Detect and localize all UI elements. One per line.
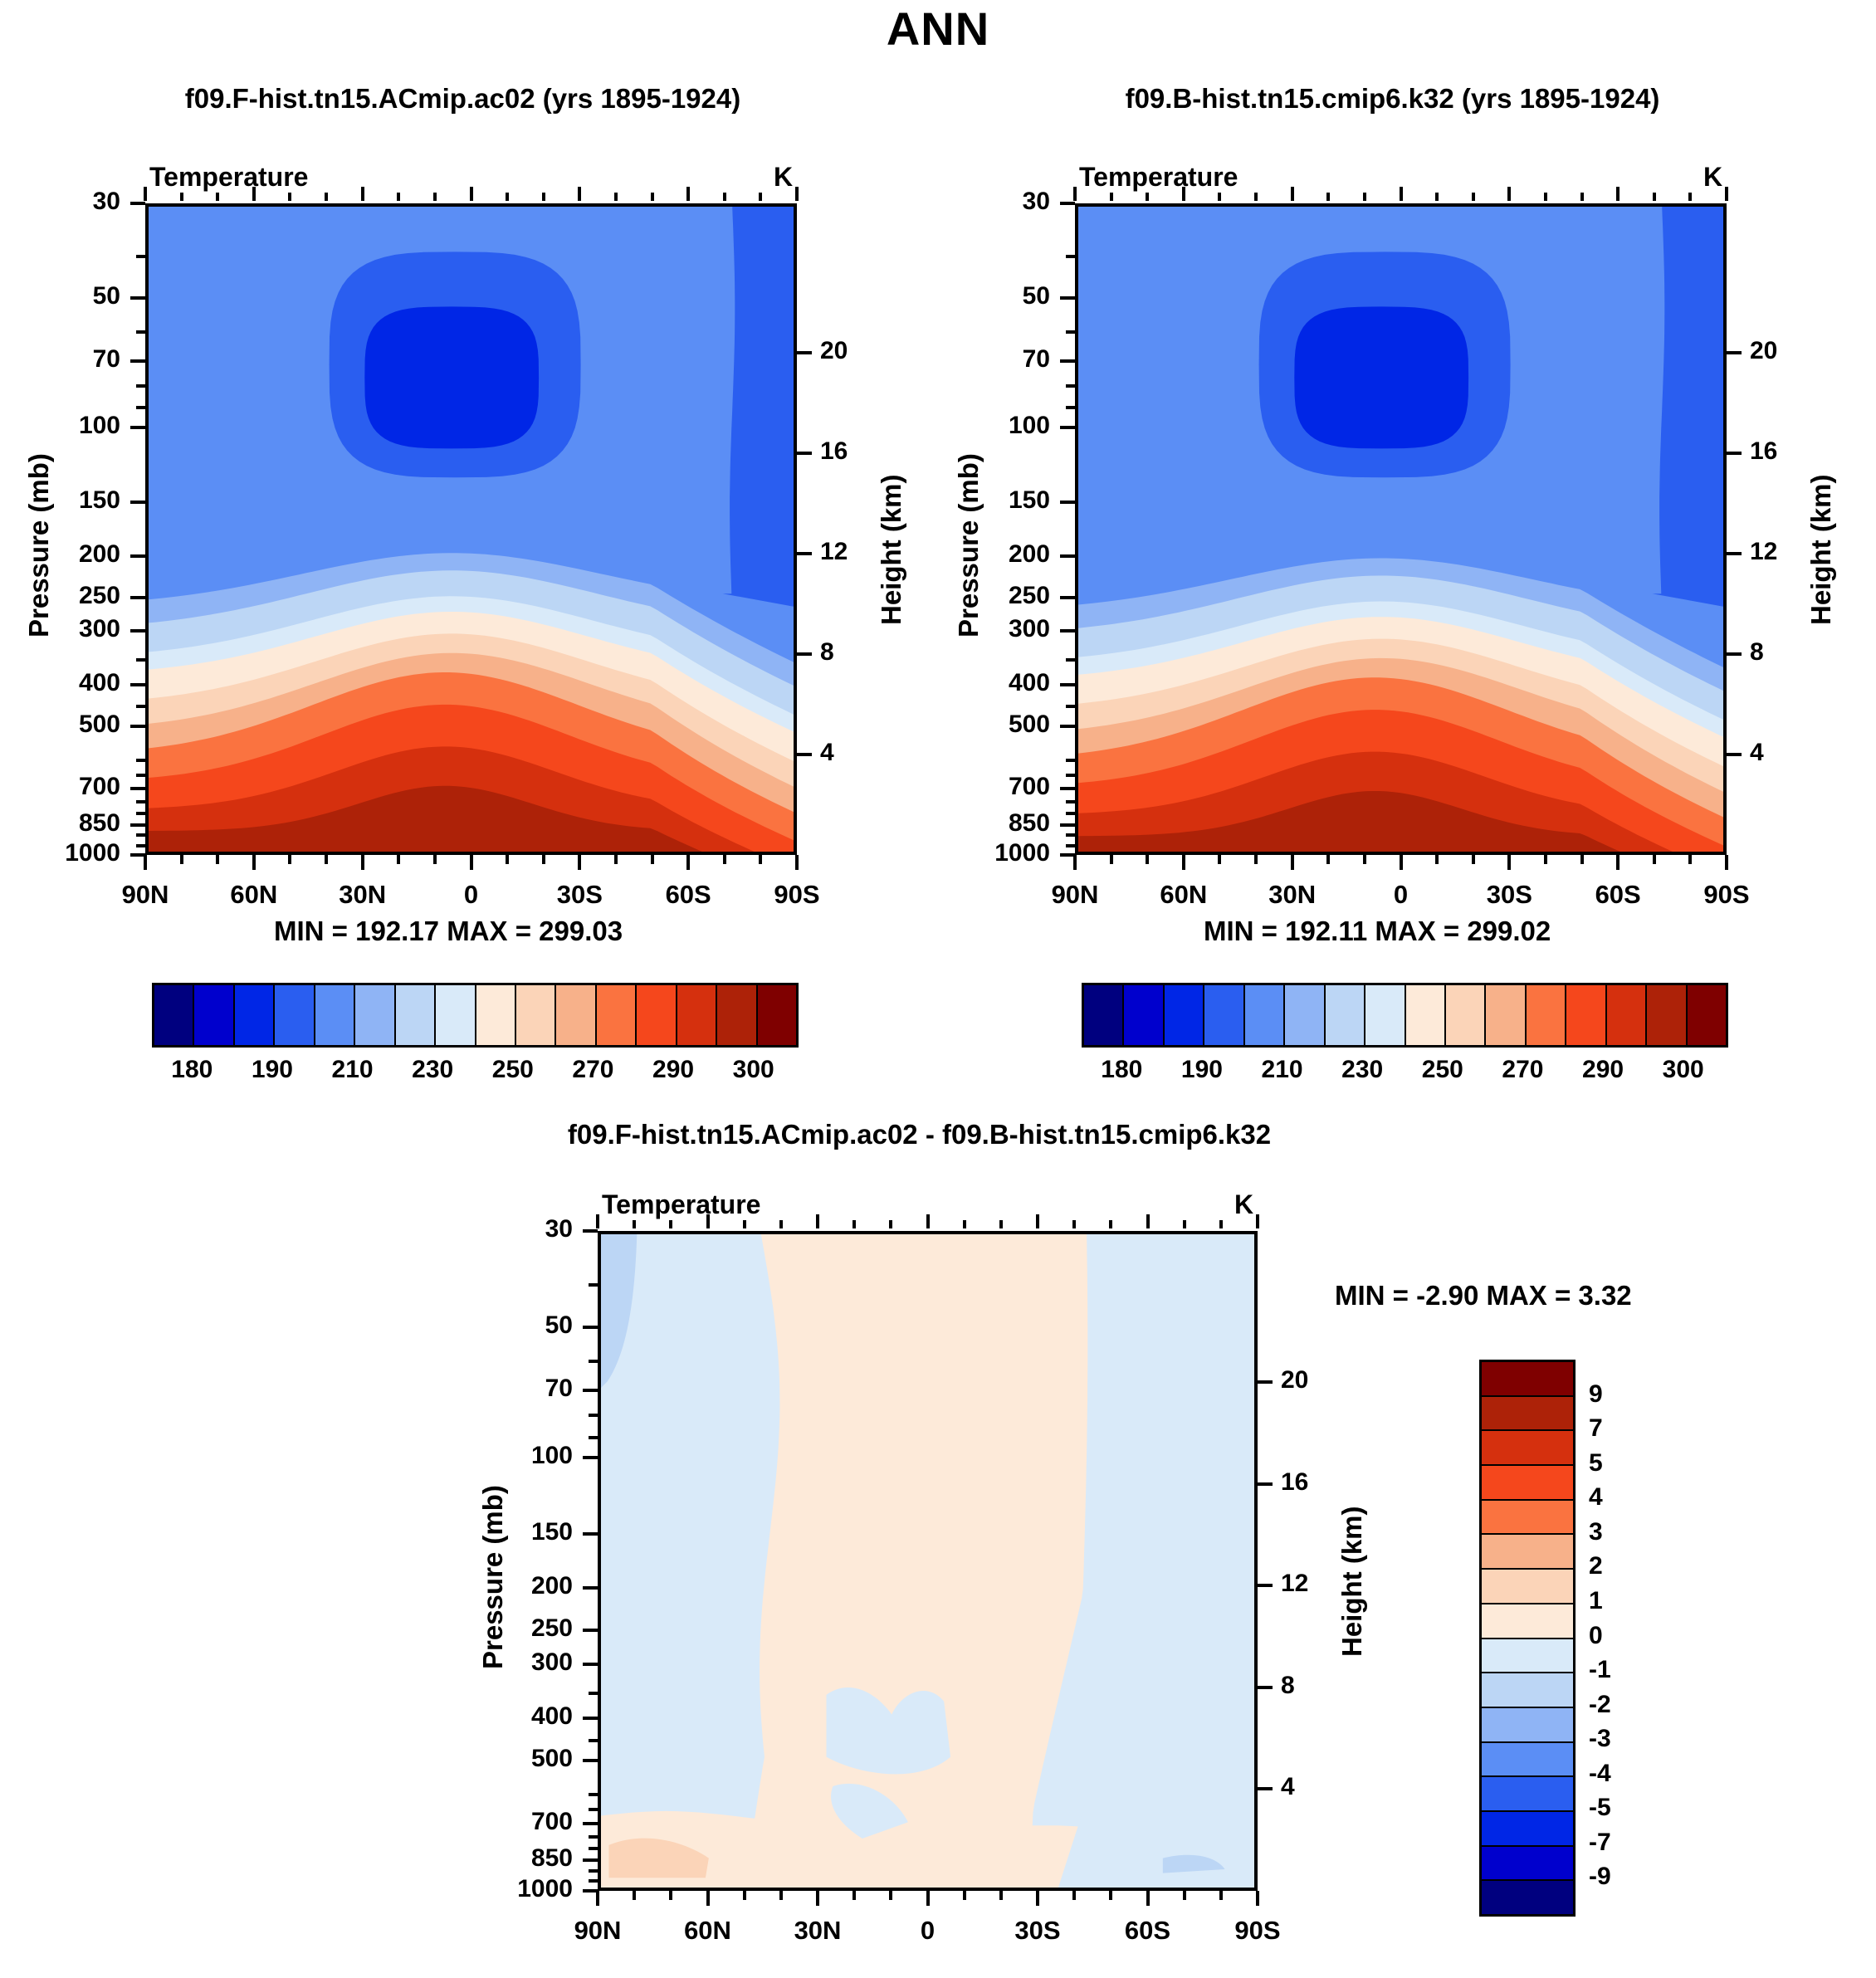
xtick-lat-minor [633,1891,636,1900]
ytick-height-12 [1258,1584,1273,1587]
ytick-pressure-30 [583,1229,598,1233]
colorbar-label-neg2: -2 [1589,1691,1611,1719]
ytick-label-height-8: 8 [1281,1672,1295,1700]
xtick-lat-minor [1219,1891,1223,1900]
ytick-pressure-100 [583,1456,598,1459]
colorbar-cell-7[interactable] [1482,1604,1573,1639]
xtick-lat-minor [853,1891,856,1900]
xtick-label-lat-90S: 90S [1191,1916,1324,1946]
xtick-top-lat [1109,1220,1112,1228]
colorbar-label-neg4: -4 [1589,1760,1611,1788]
ytick-pressure-300 [583,1663,598,1666]
ytick-pressure-minor [589,1847,598,1850]
minmax-label-difference: MIN = -2.90 MAX = 3.32 [1335,1280,1632,1311]
ytick-label-pressure-400: 400 [423,1702,573,1731]
yaxis-title-right-difference: Height (km) [1336,1506,1368,1657]
ytick-label-pressure-100: 100 [423,1442,573,1470]
colorbar-label-5: 5 [1589,1449,1603,1477]
ytick-pressure-850 [583,1858,598,1862]
unit-label-difference: K [1234,1189,1253,1220]
ytick-pressure-250 [583,1629,598,1632]
xtick-lat-60S [1146,1891,1150,1906]
xtick-lat-minor [1109,1891,1112,1900]
xtick-lat-30S [1036,1891,1039,1906]
xtick-lat-60N [706,1891,710,1906]
ytick-pressure-400 [583,1717,598,1720]
plot-area-difference [598,1231,1258,1891]
ytick-label-pressure-700: 700 [423,1808,573,1836]
ytick-pressure-minor [589,1739,598,1742]
colorbar-label-1: 1 [1589,1587,1603,1615]
colorbar-label-neg7: -7 [1589,1829,1611,1857]
colorbar-cell-6[interactable] [1482,1570,1573,1604]
ytick-pressure-minor [589,1869,598,1873]
ytick-pressure-minor [589,1879,598,1883]
colorbar-label-7: 7 [1589,1414,1603,1443]
xtick-lat-minor [1183,1891,1186,1900]
xtick-lat-minor [999,1891,1003,1900]
xtick-lat-90N [596,1891,599,1906]
colorbar-cell-14[interactable] [1482,1847,1573,1882]
panel-difference: f09.F-hist.tn15.ACmip.ac02 - f09.B-hist.… [0,0,1876,1978]
xtick-top-lat [633,1220,636,1228]
ytick-pressure-150 [583,1532,598,1536]
panel-title-difference: f09.F-hist.tn15.ACmip.ac02 - f09.B-hist.… [568,1119,1271,1150]
ytick-pressure-minor [589,1360,598,1363]
ytick-label-pressure-500: 500 [423,1745,573,1773]
ytick-label-pressure-50: 50 [423,1311,573,1340]
ytick-pressure-200 [583,1586,598,1590]
xtick-top-lat [853,1220,856,1228]
xtick-lat-minor [963,1891,966,1900]
ytick-label-height-20: 20 [1281,1366,1308,1394]
xtick-top-lat [999,1220,1003,1228]
colorbar-difference[interactable] [1479,1360,1576,1917]
colorbar-cell-15[interactable] [1482,1881,1573,1914]
xtick-top-lat [926,1214,930,1228]
contour-field-difference [601,1234,1254,1888]
ytick-pressure-500 [583,1759,598,1762]
colorbar-cell-1[interactable] [1482,1397,1573,1432]
ytick-pressure-minor [589,1793,598,1796]
ytick-label-height-12: 12 [1281,1570,1308,1598]
xtick-top-lat [596,1214,599,1228]
ytick-label-height-4: 4 [1281,1773,1295,1801]
colorbar-cell-11[interactable] [1482,1743,1573,1778]
xtick-top-lat [1036,1214,1039,1228]
yaxis-title-difference: Pressure (mb) [477,1485,509,1669]
ytick-label-pressure-850: 850 [423,1844,573,1873]
colorbar-cell-9[interactable] [1482,1673,1573,1708]
colorbar-cell-0[interactable] [1482,1362,1573,1397]
colorbar-label-3: 3 [1589,1518,1603,1546]
colorbar-label-neg9: -9 [1589,1863,1611,1891]
xtick-top-lat [1146,1214,1150,1228]
xtick-top-lat [1219,1220,1223,1228]
xtick-top-lat [706,1214,710,1228]
colorbar-cell-8[interactable] [1482,1639,1573,1674]
ytick-pressure-50 [583,1326,598,1329]
xtick-lat-30N [816,1891,819,1906]
colorbar-cell-10[interactable] [1482,1708,1573,1743]
colorbar-cell-2[interactable] [1482,1431,1573,1466]
xtick-top-lat [816,1214,819,1228]
contour-band-warm-column [743,1234,1087,1888]
colorbar-label-neg1: -1 [1589,1656,1611,1684]
ytick-label-pressure-30: 30 [423,1215,573,1243]
xtick-lat-minor [669,1891,672,1900]
xtick-lat-minor [1072,1891,1076,1900]
colorbar-label-9: 9 [1589,1380,1603,1409]
ytick-pressure-70 [583,1389,598,1392]
ytick-pressure-minor [589,1436,598,1439]
colorbar-label-4: 4 [1589,1483,1603,1512]
ytick-height-8 [1258,1686,1273,1689]
colorbar-cell-3[interactable] [1482,1466,1573,1501]
xtick-top-lat [1183,1220,1186,1228]
ytick-pressure-minor [589,1835,598,1839]
xtick-lat-minor [743,1891,746,1900]
xtick-lat-90S [1256,1891,1259,1906]
ytick-pressure-minor [589,1283,598,1287]
colorbar-label-neg3: -3 [1589,1725,1611,1753]
ytick-pressure-minor [589,1692,598,1695]
colorbar-label-2: 2 [1589,1552,1603,1580]
colorbar-label-0: 0 [1589,1622,1603,1650]
xtick-top-lat [1256,1214,1259,1228]
ytick-label-pressure-70: 70 [423,1375,573,1403]
colorbar-cell-12[interactable] [1482,1777,1573,1812]
colorbar-cell-5[interactable] [1482,1535,1573,1570]
ytick-pressure-700 [583,1822,598,1825]
ytick-height-4 [1258,1787,1273,1790]
ytick-pressure-minor [589,1808,598,1811]
xtick-top-lat [779,1220,783,1228]
xtick-lat-0 [926,1891,930,1906]
xtick-top-lat [743,1220,746,1228]
ytick-pressure-minor [589,1414,598,1417]
colorbar-cell-13[interactable] [1482,1812,1573,1847]
xtick-top-lat [669,1220,672,1228]
xtick-lat-minor [889,1891,892,1900]
variable-label-difference: Temperature [602,1189,760,1220]
xtick-top-lat [889,1220,892,1228]
colorbar-label-neg5: -5 [1589,1794,1611,1822]
ytick-label-height-16: 16 [1281,1468,1308,1497]
ytick-height-16 [1258,1482,1273,1486]
xtick-top-lat [1072,1220,1076,1228]
xtick-lat-minor [779,1891,783,1900]
xtick-top-lat [963,1220,966,1228]
ytick-label-pressure-1000: 1000 [423,1875,573,1903]
ytick-height-20 [1258,1380,1273,1384]
colorbar-cell-4[interactable] [1482,1501,1573,1536]
